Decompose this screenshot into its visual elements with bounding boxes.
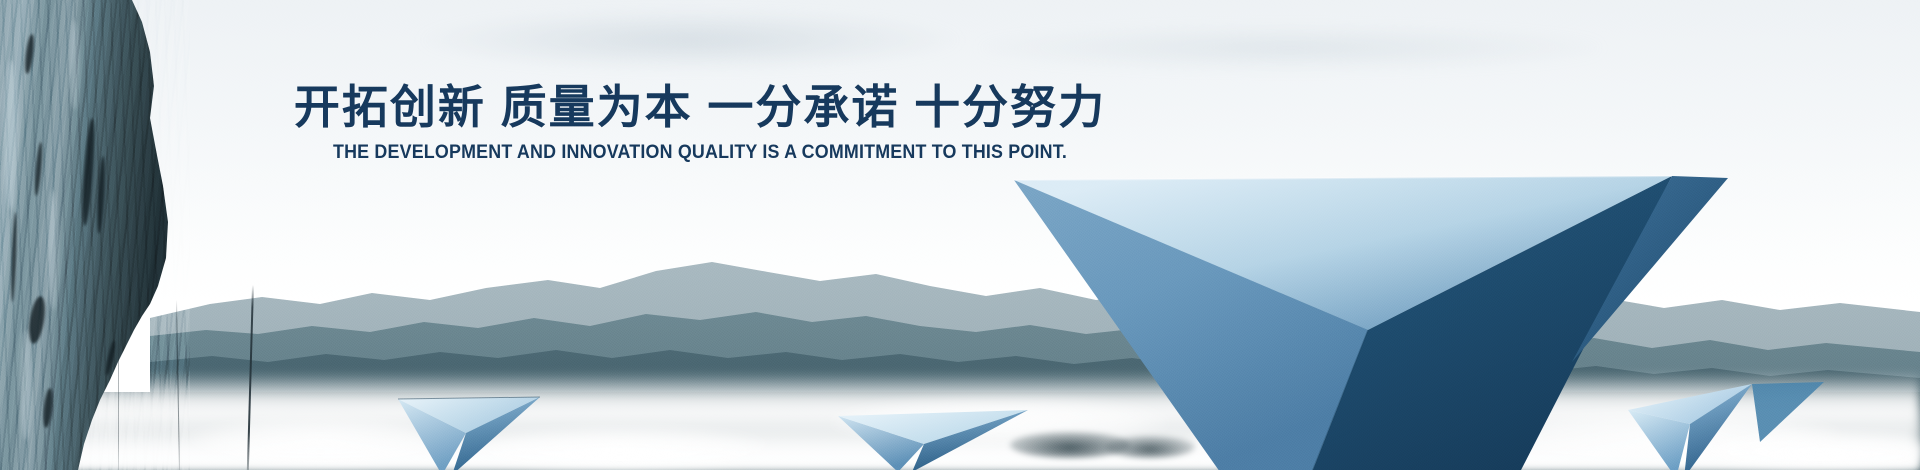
hero-banner: 开拓创新 质量为本 一分承诺 十分努力 THE DEVELOPMENT AND … bbox=[0, 0, 1920, 470]
banner-text-block: 开拓创新 质量为本 一分承诺 十分努力 THE DEVELOPMENT AND … bbox=[0, 82, 1400, 163]
pyramid-small-left bbox=[398, 395, 540, 470]
pyramid-wing-right bbox=[1752, 382, 1824, 442]
cliff-highlight bbox=[20, 330, 32, 440]
pyramid-small-center bbox=[838, 410, 1028, 470]
pyramid-large bbox=[1012, 176, 1728, 470]
rock-cliff bbox=[0, 0, 190, 470]
climbing-rope bbox=[118, 318, 119, 470]
page-subtitle: THE DEVELOPMENT AND INNOVATION QUALITY I… bbox=[42, 143, 1358, 164]
cliff-highlight bbox=[48, 190, 58, 310]
page-title: 开拓创新 质量为本 一分承诺 十分努力 bbox=[0, 82, 1400, 134]
